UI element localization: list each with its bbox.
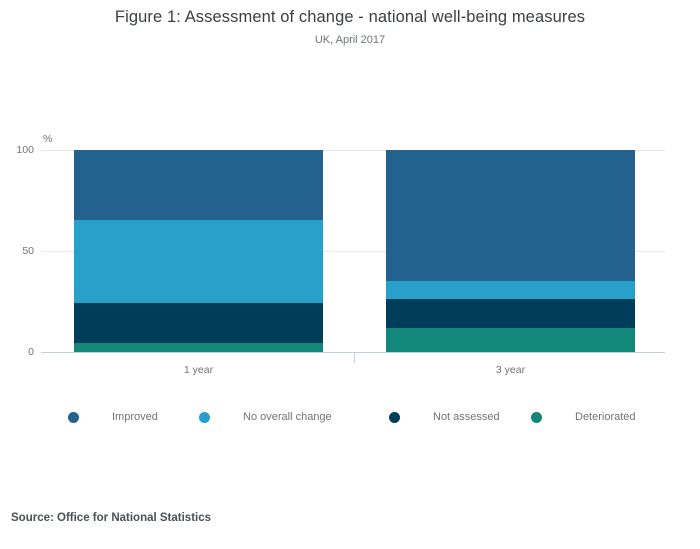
x-axis-line — [41, 352, 665, 353]
legend-item-label: Improved — [112, 411, 158, 423]
bar-segment-improved[interactable] — [386, 150, 635, 281]
bar-segment-deteriorated[interactable] — [386, 328, 635, 352]
bar-segment-no-overall-change[interactable] — [386, 281, 635, 299]
circle-marker-icon — [199, 412, 210, 423]
y-axis-tick-0: 0 — [0, 346, 34, 358]
page-title: Figure 1: Assessment of change - nationa… — [0, 0, 700, 27]
plot-area: % 100 50 0 1 year 3 year — [0, 130, 700, 380]
x-axis-tick-middle — [354, 352, 355, 363]
bar-segment-no-overall-change[interactable] — [74, 220, 323, 303]
y-axis-unit-label: % — [43, 133, 52, 145]
legend-item-label: Deteriorated — [575, 411, 636, 423]
legend-item-label: Not assessed — [433, 411, 500, 423]
bar-segment-improved[interactable] — [74, 150, 323, 220]
x-axis-label-1-year: 1 year — [74, 364, 323, 376]
bar-segment-not-assessed[interactable] — [386, 299, 635, 328]
legend-item-not-assessed[interactable]: Not assessed — [389, 406, 500, 428]
x-axis-label-3-year: 3 year — [386, 364, 635, 376]
bar-1-year[interactable] — [74, 150, 323, 352]
circle-marker-icon — [68, 412, 79, 423]
bar-segment-deteriorated[interactable] — [74, 343, 323, 352]
circle-marker-icon — [531, 412, 542, 423]
chart-subtitle: UK, April 2017 — [0, 27, 700, 46]
legend-item-improved[interactable]: Improved — [68, 406, 158, 428]
legend-item-deteriorated[interactable]: Deteriorated — [531, 406, 636, 428]
bar-3-year[interactable] — [386, 150, 635, 352]
legend: Improved No overall change Not assessed … — [60, 406, 660, 428]
y-axis-tick-100: 100 — [0, 144, 34, 156]
legend-item-label: No overall change — [243, 411, 332, 423]
circle-marker-icon — [389, 412, 400, 423]
y-axis-tick-50: 50 — [0, 245, 34, 257]
legend-item-no-overall-change[interactable]: No overall change — [199, 406, 332, 428]
source-note: Source: Office for National Statistics — [11, 512, 211, 524]
bar-segment-not-assessed[interactable] — [74, 303, 323, 343]
